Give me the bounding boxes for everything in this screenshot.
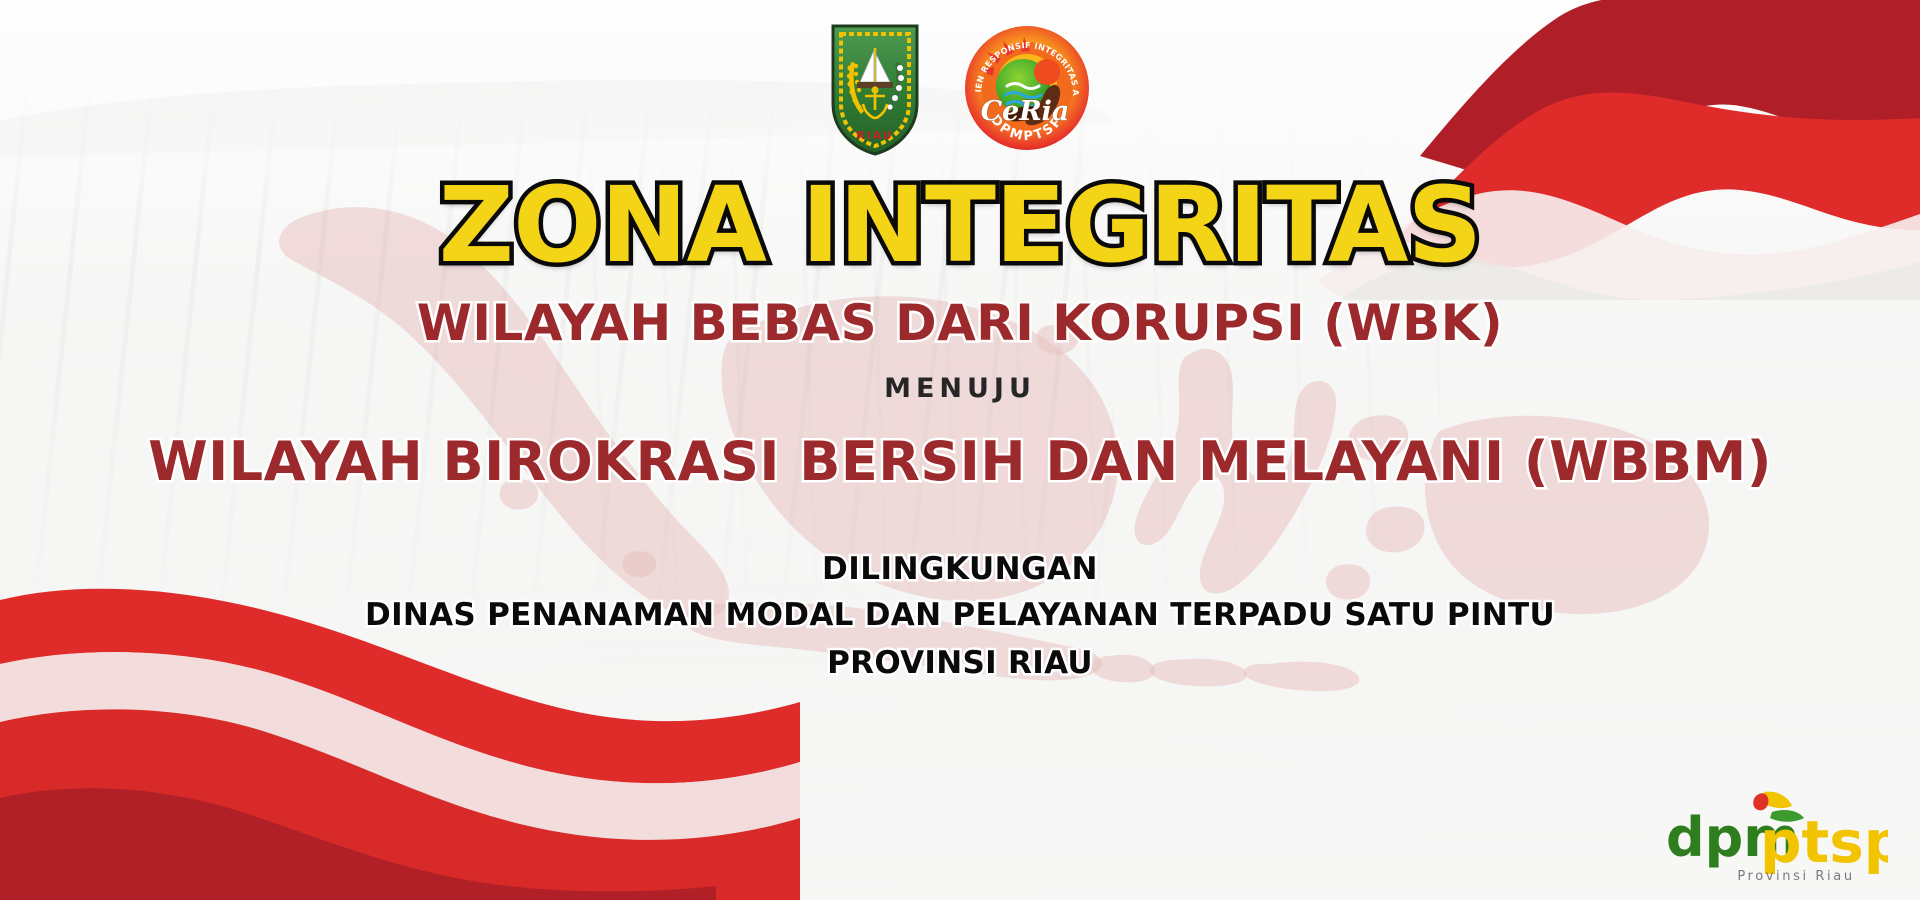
svg-text:RIAU: RIAU	[856, 129, 894, 142]
menuju-label: MENUJU	[0, 373, 1920, 404]
footer-line-instansi: DINAS PENANAMAN MODAL DAN PELAYANAN TERP…	[0, 595, 1920, 637]
footer-text-block: DILINGKUNGAN DINAS PENANAMAN MODAL DAN P…	[0, 549, 1920, 685]
footer-line-dilingkungan: DILINGKUNGAN	[0, 549, 1920, 589]
banner-text-block: ZONA INTEGRITAS WILAYAH BEBAS DARI KORUP…	[0, 172, 1920, 685]
svg-text:CeRia: CeRia	[981, 96, 1070, 127]
ptsp-text: ptsp	[1760, 808, 1888, 876]
dpmptsp-wordmark-logo: dpm ptsp Provinsi Riau	[1648, 782, 1888, 886]
logo-row: RIAU	[0, 22, 1920, 158]
riau-province-emblem-icon: RIAU	[829, 22, 921, 158]
wbk-subtitle: WILAYAH BEBAS DARI KORUPSI (WBK)	[0, 296, 1920, 351]
zona-integritas-banner: RIAU	[0, 0, 1920, 900]
wbbm-subtitle: WILAYAH BIROKRASI BERSIH DAN MELAYANI (W…	[0, 430, 1920, 493]
tagline-text: Provinsi Riau	[1737, 869, 1854, 884]
page-title: ZONA INTEGRITAS	[0, 172, 1920, 278]
ceria-dpmptsp-emblem-icon: CEPAT EFISIEN RESPONSIF INTEGRITAS AKUNT…	[963, 24, 1091, 152]
footer-line-provinsi: PROVINSI RIAU	[0, 643, 1920, 685]
